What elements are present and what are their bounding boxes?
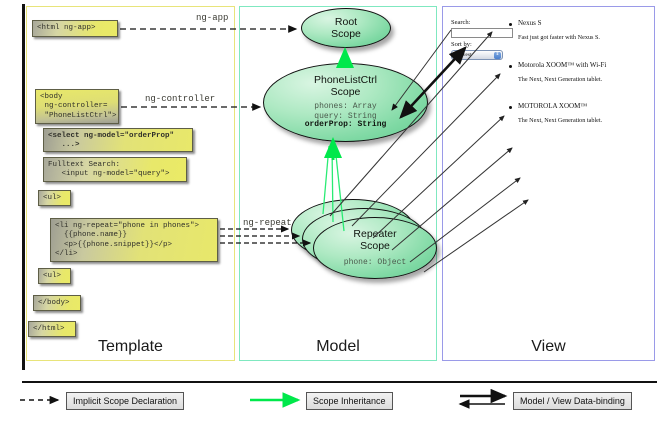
view-search-input[interactable] — [451, 28, 513, 38]
list-bullet-icon — [509, 65, 512, 68]
view-sort-select[interactable]: Newest ⇕ — [451, 50, 503, 60]
column-model: Model — [239, 6, 437, 361]
repeater-scope-props: phone: Object — [314, 258, 436, 268]
legend-scope-inheritance: Scope Inheritance — [306, 392, 393, 410]
view-search-label: Search: — [451, 19, 471, 26]
view-sort-label: Sort by: — [451, 41, 472, 48]
double-arrow-icon — [460, 396, 505, 404]
html-tag-box: <html ng-app> — [32, 20, 118, 37]
ng-controller-edge-label: ng-controller — [145, 94, 215, 104]
phonelistctrl-scope-title: PhoneListCtrl Scope — [264, 64, 427, 98]
root-scope: Root Scope — [301, 8, 391, 48]
column-label-model: Model — [240, 338, 436, 356]
root-scope-title: Root Scope — [302, 9, 390, 40]
list-item: Nexus S — [518, 19, 542, 27]
view-mock: Search: Sort by: Newest ⇕ Nexus S Fast j… — [447, 9, 650, 354]
list-item-snippet: Fast just got faster with Nexus S. — [518, 34, 600, 41]
body-close-box: </body> — [33, 295, 81, 311]
html-close-box: </html> — [28, 321, 76, 337]
phonelistctrl-scope-props-bold: orderProp: String — [305, 120, 387, 129]
phonelistctrl-scope-props: phones: Array query: String — [264, 102, 427, 121]
list-bullet-icon — [509, 23, 512, 26]
phonelistctrl-scope: PhoneListCtrl Scope phones: Array query:… — [263, 63, 428, 142]
li-repeat-box: <li ng-repeat="phone in phones"> {{phone… — [50, 218, 218, 262]
body-tag-box: <body ng-controller= "PhoneListCtrl"> — [35, 89, 119, 124]
legend-implicit-scope: Implicit Scope Declaration — [66, 392, 184, 410]
legend-divider — [22, 381, 657, 383]
list-item: Motorola XOOM™ with Wi-Fi — [518, 61, 606, 69]
legend-data-binding: Model / View Data-binding — [513, 392, 632, 410]
ng-repeat-edge-label: ng-repeat — [243, 218, 292, 228]
repeater-scope: Repeater Scope phone: Object — [313, 217, 437, 279]
angular-scope-diagram: Template Model View <html ng-app> <body … — [0, 0, 661, 425]
list-item-snippet: The Next, Next Generation tablet. — [518, 76, 602, 83]
list-item-snippet: The Next, Next Generation tablet. — [518, 117, 602, 124]
column-label-template: Template — [27, 338, 234, 356]
view-sort-select-value: Newest — [455, 52, 472, 58]
list-item: MOTOROLA XOOM™ — [518, 102, 587, 110]
ng-app-edge-label: ng-app — [196, 13, 228, 23]
legend: Implicit Scope Declaration Scope Inherit… — [0, 389, 661, 413]
repeater-scope-title: Repeater Scope — [314, 218, 436, 252]
chevron-updown-icon: ⇕ — [494, 52, 501, 59]
select-tag-box: <select ng-model="orderProp" ...> — [43, 128, 193, 152]
ul-open-box: <ul> — [38, 190, 71, 206]
search-input-box: Fulltext Search: <input ng-model="query"… — [43, 157, 187, 182]
list-bullet-icon — [509, 106, 512, 109]
ul-close-box: <ul> — [38, 268, 71, 284]
